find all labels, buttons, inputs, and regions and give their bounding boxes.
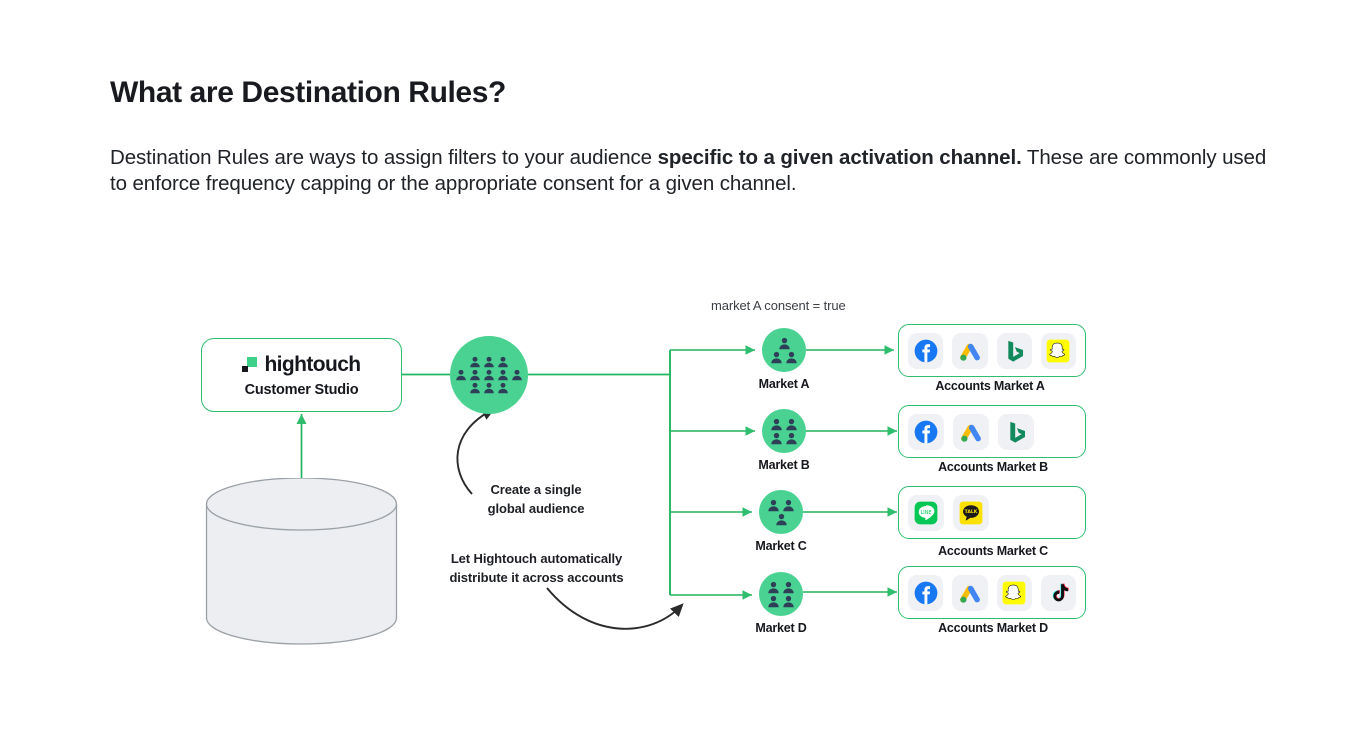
market-d-circle [759,572,803,616]
person-icon [770,418,783,431]
snapchat-icon[interactable] [1041,333,1076,369]
people-row [455,369,523,381]
person-icon [483,382,495,394]
market-a-consent-label: market A consent = true [711,298,846,313]
hightouch-customer-studio-card[interactable]: hightouch Customer Studio [201,338,402,412]
google-ads-icon[interactable] [953,414,989,450]
person-icon [497,382,509,394]
person-icon [767,595,780,608]
person-icon [785,418,798,431]
market-b-label: Market B [739,458,829,472]
facebook-icon[interactable] [908,333,943,369]
market-c-label: Market C [736,539,826,553]
person-icon [778,337,791,350]
person-icon [782,499,795,512]
person-icon [782,595,795,608]
person-icon [497,369,509,381]
google-ads-icon[interactable] [952,575,987,611]
customer-studio-label: Customer Studio [245,382,359,398]
people-row [778,337,791,350]
hightouch-logo-mark-icon [242,357,257,372]
facebook-icon[interactable] [908,414,944,450]
market-c-circle [759,490,803,534]
tiktok-icon[interactable] [1041,575,1076,611]
people-row [770,418,798,431]
market-node-market-b[interactable]: Market B [739,409,829,472]
person-icon [497,356,509,368]
market-node-market-a[interactable]: Market A [739,328,829,391]
accounts-market-d-box[interactable] [898,566,1086,619]
accounts-market-b-box[interactable] [898,405,1086,458]
person-icon [782,581,795,594]
person-icon [511,369,523,381]
google-ads-icon[interactable] [952,333,987,369]
database-cylinder [205,478,398,658]
market-b-circle [762,409,806,453]
people-row [767,581,795,594]
market-d-label: Market D [736,621,826,635]
bing-icon[interactable] [998,414,1034,450]
person-icon [775,513,788,526]
annotation-let-hightouch-distribute: Let Hightouch automatically distribute i… [434,550,639,588]
people-row [770,351,798,364]
market-node-market-c[interactable]: Market C [736,490,826,553]
person-icon [455,369,467,381]
destination-rules-diagram: hightouch Customer Studio Create a singl… [0,0,1346,742]
annotation-create-single-global-audience: Create a single global audience [475,481,597,519]
person-icon [767,581,780,594]
person-icon [785,432,798,445]
snapchat-icon[interactable] [997,575,1032,611]
person-icon [469,356,481,368]
person-icon [767,499,780,512]
hightouch-logo: hightouch [242,353,360,377]
person-icon [483,369,495,381]
accounts-market-a-box[interactable] [898,324,1086,377]
person-icon [785,351,798,364]
bing-icon[interactable] [997,333,1032,369]
market-a-label: Market A [739,377,829,391]
people-row [469,356,509,368]
people-row [767,595,795,608]
kakaotalk-icon[interactable]: TALK [953,495,989,531]
hightouch-wordmark: hightouch [264,353,360,377]
global-audience-node[interactable] [450,336,528,414]
people-row [469,382,509,394]
person-icon [469,382,481,394]
accounts-market-d-label: Accounts Market D [893,621,1093,635]
people-row [770,432,798,445]
line-icon[interactable]: LINE [908,495,944,531]
people-row [767,499,795,512]
person-icon [770,351,783,364]
person-icon [469,369,481,381]
accounts-market-a-label: Accounts Market A [890,379,1090,393]
accounts-market-c-box[interactable]: LINE TALK [898,486,1086,539]
svg-text:TALK: TALK [965,509,978,515]
person-icon [483,356,495,368]
svg-text:LINE: LINE [921,510,932,516]
market-a-circle [762,328,806,372]
people-row [775,513,788,526]
market-node-market-d[interactable]: Market D [736,572,826,635]
facebook-icon[interactable] [908,575,943,611]
accounts-market-c-label: Accounts Market C [893,544,1093,558]
accounts-market-b-label: Accounts Market B [893,460,1093,474]
person-icon [770,432,783,445]
